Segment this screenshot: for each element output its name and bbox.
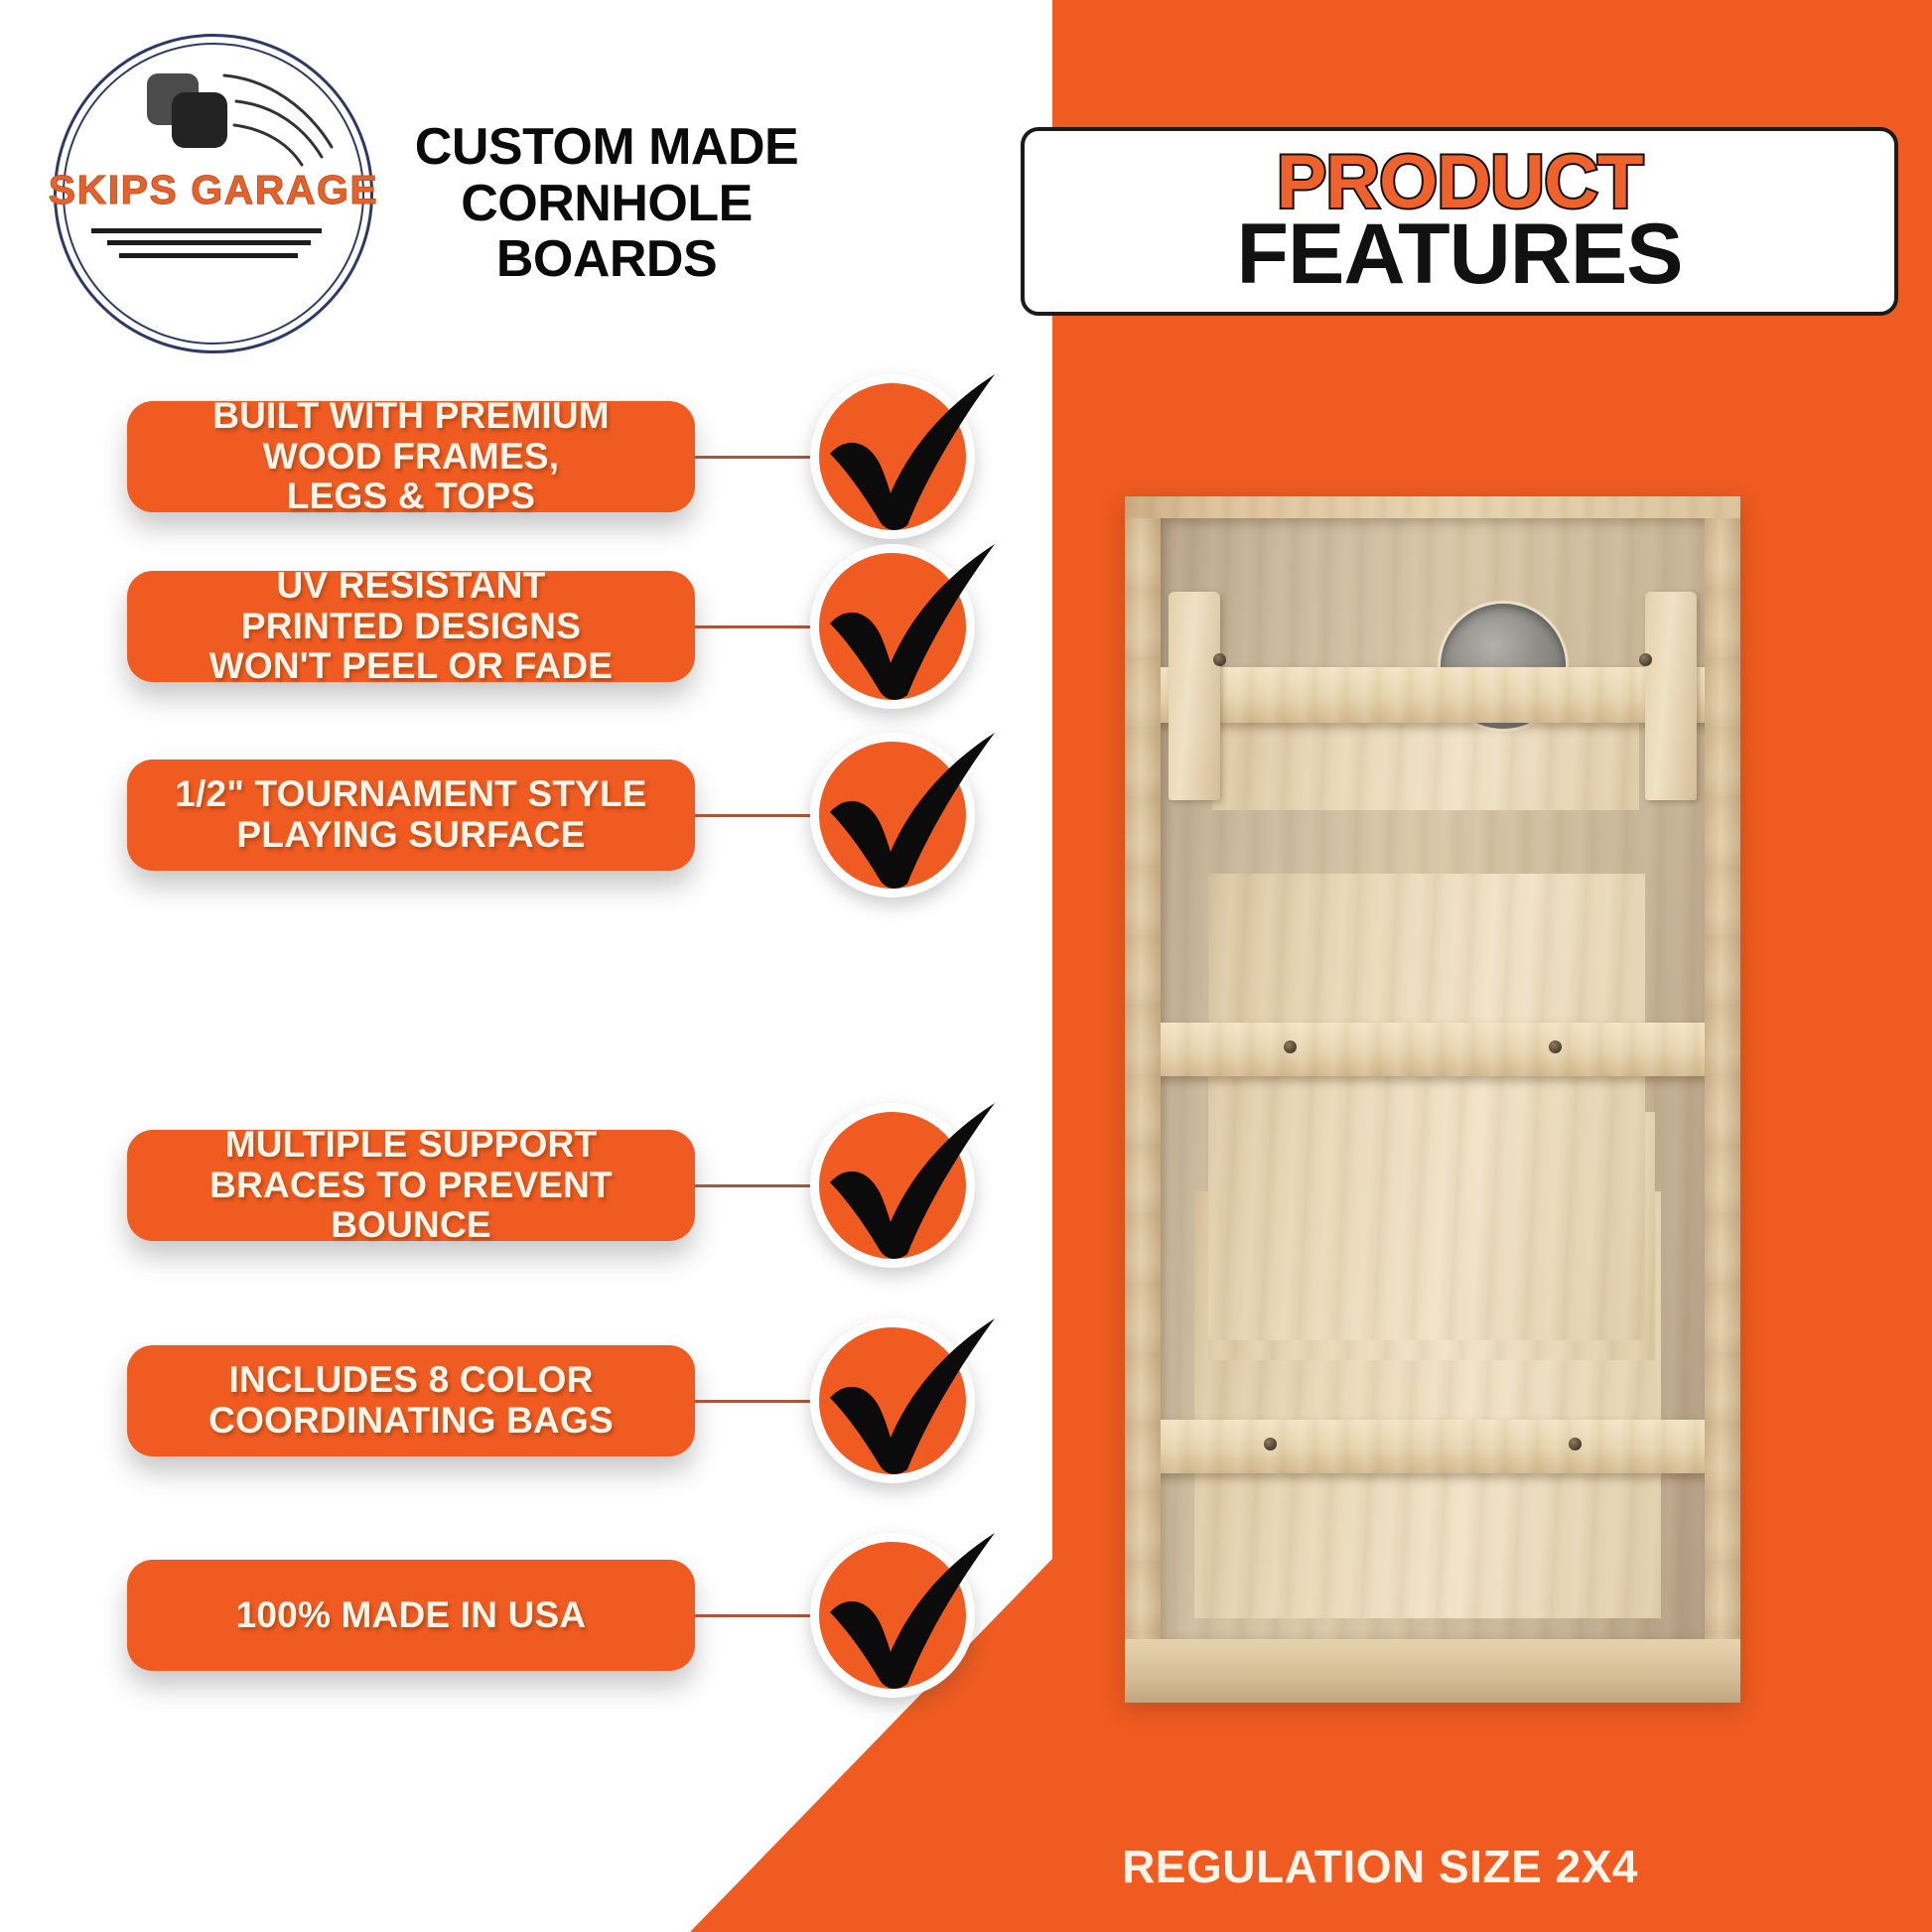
feature-connector-4 [695, 1184, 814, 1187]
check-icon [810, 374, 975, 539]
screw-icon [1549, 1040, 1562, 1053]
feature-pill-3[interactable]: 1/2" TOURNAMENT STYLE PLAYING SURFACE [127, 759, 695, 871]
check-icon [810, 1533, 975, 1698]
screw-icon [1284, 1040, 1297, 1053]
product-features-banner: PRODUCT FEATURES [1021, 127, 1898, 316]
feature-connector-2 [695, 625, 814, 628]
infographic-root: SKIPS GARAGE CUSTOM MADE CORNHOLE BOARDS… [0, 0, 1932, 1932]
check-icon [810, 1103, 975, 1268]
cornhole-board-image [1125, 496, 1740, 1703]
screw-icon [1639, 653, 1652, 666]
check-circle-1 [810, 374, 975, 539]
feature-pill-1[interactable]: BUILT WITH PREMIUM WOOD FRAMES, LEGS & T… [127, 401, 695, 512]
logo-bar-2 [107, 240, 311, 245]
check-circle-3 [810, 733, 975, 897]
check-circle-4 [810, 1103, 975, 1268]
brand-logo: SKIPS GARAGE [30, 18, 397, 385]
logo-bar-3 [119, 253, 298, 258]
board-brace-upper [1155, 667, 1711, 723]
check-circle-2 [810, 544, 975, 709]
feature-label-5: INCLUDES 8 COLOR COORDINATING BAGS [187, 1360, 635, 1441]
screw-icon [1213, 653, 1226, 666]
board-leg-right [1645, 592, 1697, 800]
board-bottom-rail [1125, 1639, 1740, 1703]
check-icon [810, 733, 975, 897]
feature-pill-5[interactable]: INCLUDES 8 COLOR COORDINATING BAGS [127, 1345, 695, 1456]
regulation-size-note: REGULATION SIZE 2X4 [1013, 1840, 1747, 1893]
logo-bar-1 [91, 228, 322, 233]
check-icon [810, 1318, 975, 1483]
board-rail-left [1125, 518, 1161, 1639]
board-brace-lower [1155, 1420, 1711, 1473]
feature-connector-6 [695, 1614, 814, 1617]
check-circle-5 [810, 1318, 975, 1483]
logo-square-front-icon [172, 92, 227, 148]
page-title: CUSTOM MADE CORNHOLE BOARDS [393, 119, 820, 288]
feature-pill-2[interactable]: UV RESISTANT PRINTED DESIGNS WON'T PEEL … [127, 571, 695, 682]
feature-pill-6[interactable]: 100% MADE IN USA [127, 1560, 695, 1671]
logo-wordmark: SKIPS GARAGE [30, 167, 397, 213]
feature-connector-1 [695, 456, 814, 459]
logo-swoosh-icon [220, 69, 349, 169]
feature-pill-4[interactable]: MULTIPLE SUPPORT BRACES TO PREVENT BOUNC… [127, 1130, 695, 1241]
board-brace-middle [1155, 1023, 1711, 1076]
board-leg-left [1169, 592, 1220, 800]
screw-icon [1569, 1438, 1582, 1450]
banner-title-features: FEATURES [1236, 213, 1682, 296]
check-circle-6 [810, 1533, 975, 1698]
feature-connector-3 [695, 814, 814, 817]
feature-label-3: 1/2" TOURNAMENT STYLE PLAYING SURFACE [153, 774, 668, 855]
feature-label-2: UV RESISTANT PRINTED DESIGNS WON'T PEEL … [188, 566, 634, 687]
feature-label-6: 100% MADE IN USA [214, 1595, 609, 1636]
screw-icon [1264, 1438, 1277, 1450]
feature-connector-5 [695, 1400, 814, 1403]
board-panel-middle [1208, 874, 1645, 1340]
feature-label-4: MULTIPLE SUPPORT BRACES TO PREVENT BOUNC… [188, 1125, 634, 1246]
feature-label-1: BUILT WITH PREMIUM WOOD FRAMES, LEGS & T… [191, 396, 631, 517]
check-icon [810, 544, 975, 709]
board-rail-right [1705, 518, 1740, 1639]
